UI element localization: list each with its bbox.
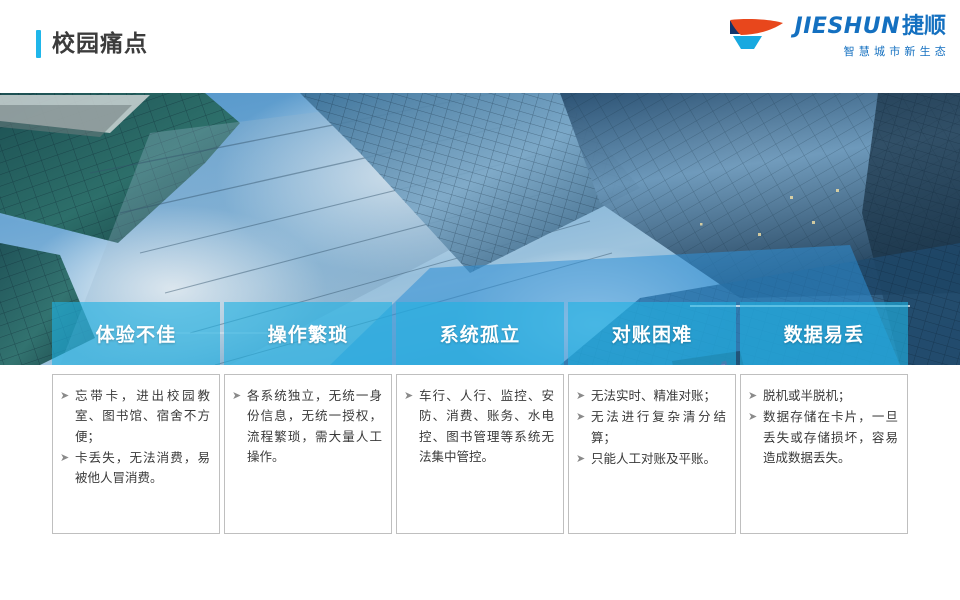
card-header-banner: 体验不佳: [52, 302, 220, 365]
card-title: 对账困难: [612, 320, 693, 347]
card-body: ➤ 忘带卡，进出校园教室、图书馆、宿舍不方便； ➤ 卡丢失，无法消费，易被他人冒…: [52, 374, 220, 534]
arrow-bullet-icon: ➤: [60, 448, 75, 468]
list-item: ➤ 数据存储在卡片，一旦丢失或存储损坏，容易造成数据丢失。: [748, 407, 898, 468]
card-title: 数据易丢: [784, 320, 865, 347]
arrow-bullet-icon: ➤: [576, 407, 591, 427]
arrow-bullet-icon: ➤: [404, 386, 419, 406]
arrow-bullet-icon: ➤: [748, 386, 763, 406]
card-title: 体验不佳: [96, 320, 177, 347]
card-header-banner: 对账困难: [568, 302, 736, 365]
bullet-list: ➤ 脱机或半脱机； ➤ 数据存储在卡片，一旦丢失或存储损坏，容易造成数据丢失。: [748, 386, 898, 468]
list-item: ➤ 无法实时、精准对账；: [576, 386, 726, 406]
page-title-group: 校园痛点: [36, 30, 148, 58]
list-item: ➤ 各系统独立，无统一身份信息，无统一授权，流程繁琐，需大量人工操作。: [232, 386, 382, 467]
bullet-text: 脱机或半脱机；: [763, 386, 898, 406]
bullet-text: 无法实时、精准对账；: [591, 386, 726, 406]
arrow-bullet-icon: ➤: [232, 386, 247, 406]
pain-point-card: 体验不佳 ➤ 忘带卡，进出校园教室、图书馆、宿舍不方便； ➤ 卡丢失，无法消费，…: [52, 302, 220, 534]
card-body: ➤ 车行、人行、监控、安防、消费、账务、水电控、图书管理等系统无法集中管控。: [396, 374, 564, 534]
logo-chinese-name: 捷顺: [902, 8, 946, 40]
list-item: ➤ 车行、人行、监控、安防、消费、账务、水电控、图书管理等系统无法集中管控。: [404, 386, 554, 467]
bullet-text: 车行、人行、监控、安防、消费、账务、水电控、图书管理等系统无法集中管控。: [419, 386, 554, 467]
bullet-text: 卡丢失，无法消费，易被他人冒消费。: [75, 448, 210, 489]
list-item: ➤ 卡丢失，无法消费，易被他人冒消费。: [60, 448, 210, 489]
card-body: ➤ 各系统独立，无统一身份信息，无统一授权，流程繁琐，需大量人工操作。: [224, 374, 392, 534]
bullet-text: 数据存储在卡片，一旦丢失或存储损坏，容易造成数据丢失。: [763, 407, 898, 468]
card-body: ➤ 无法实时、精准对账； ➤ 无法进行复杂清分结算； ➤ 只能人工对账及平账。: [568, 374, 736, 534]
arrow-bullet-icon: ➤: [60, 386, 75, 406]
list-item: ➤ 忘带卡，进出校园教室、图书馆、宿舍不方便；: [60, 386, 210, 447]
logo-tagline: 智慧城市新生态: [844, 43, 950, 59]
pain-point-card: 数据易丢 ➤ 脱机或半脱机； ➤ 数据存储在卡片，一旦丢失或存储损坏，容易造成数…: [740, 302, 908, 534]
title-accent-bar: [36, 30, 41, 58]
bullet-text: 只能人工对账及平账。: [591, 449, 726, 469]
arrow-bullet-icon: ➤: [576, 449, 591, 469]
list-item: ➤ 只能人工对账及平账。: [576, 449, 726, 469]
bullet-text: 无法进行复杂清分结算；: [591, 407, 726, 448]
jieshun-logo-mark-icon: [729, 15, 787, 53]
list-item: ➤ 脱机或半脱机；: [748, 386, 898, 406]
slide-header: 校园痛点 JIESHUN 捷顺 智慧城市新生态: [0, 0, 960, 93]
card-body: ➤ 脱机或半脱机； ➤ 数据存储在卡片，一旦丢失或存储损坏，容易造成数据丢失。: [740, 374, 908, 534]
card-header-banner: 系统孤立: [396, 302, 564, 365]
slide-root: 校园痛点 JIESHUN 捷顺 智慧城市新生态: [0, 0, 960, 600]
arrow-bullet-icon: ➤: [748, 407, 763, 427]
pain-point-card: 操作繁琐 ➤ 各系统独立，无统一身份信息，无统一授权，流程繁琐，需大量人工操作。: [224, 302, 392, 534]
page-title: 校园痛点: [52, 33, 148, 56]
bullet-list: ➤ 无法实时、精准对账； ➤ 无法进行复杂清分结算； ➤ 只能人工对账及平账。: [576, 386, 726, 469]
logo-name-row: JIESHUN 捷顺: [795, 8, 946, 40]
list-item: ➤ 无法进行复杂清分结算；: [576, 407, 726, 448]
pain-point-card: 对账困难 ➤ 无法实时、精准对账； ➤ 无法进行复杂清分结算； ➤ 只能人工对账…: [568, 302, 736, 534]
card-header-banner: 操作繁琐: [224, 302, 392, 365]
logo-english-name: JIESHUN: [795, 14, 900, 39]
bullet-text: 忘带卡，进出校园教室、图书馆、宿舍不方便；: [75, 386, 210, 447]
logo-text-block: JIESHUN 捷顺 智慧城市新生态: [795, 8, 946, 59]
brand-logo: JIESHUN 捷顺 智慧城市新生态: [729, 8, 946, 59]
pain-point-card: 系统孤立 ➤ 车行、人行、监控、安防、消费、账务、水电控、图书管理等系统无法集中…: [396, 302, 564, 534]
pain-point-card-row: 体验不佳 ➤ 忘带卡，进出校园教室、图书馆、宿舍不方便； ➤ 卡丢失，无法消费，…: [52, 302, 908, 534]
arrow-bullet-icon: ➤: [576, 386, 591, 406]
bullet-text: 各系统独立，无统一身份信息，无统一授权，流程繁琐，需大量人工操作。: [247, 386, 382, 467]
card-header-banner: 数据易丢: [740, 302, 908, 365]
card-title: 操作繁琐: [268, 320, 349, 347]
bullet-list: ➤ 各系统独立，无统一身份信息，无统一授权，流程繁琐，需大量人工操作。: [232, 386, 382, 467]
bullet-list: ➤ 忘带卡，进出校园教室、图书馆、宿舍不方便； ➤ 卡丢失，无法消费，易被他人冒…: [60, 386, 210, 488]
card-title: 系统孤立: [440, 320, 521, 347]
bullet-list: ➤ 车行、人行、监控、安防、消费、账务、水电控、图书管理等系统无法集中管控。: [404, 386, 554, 467]
